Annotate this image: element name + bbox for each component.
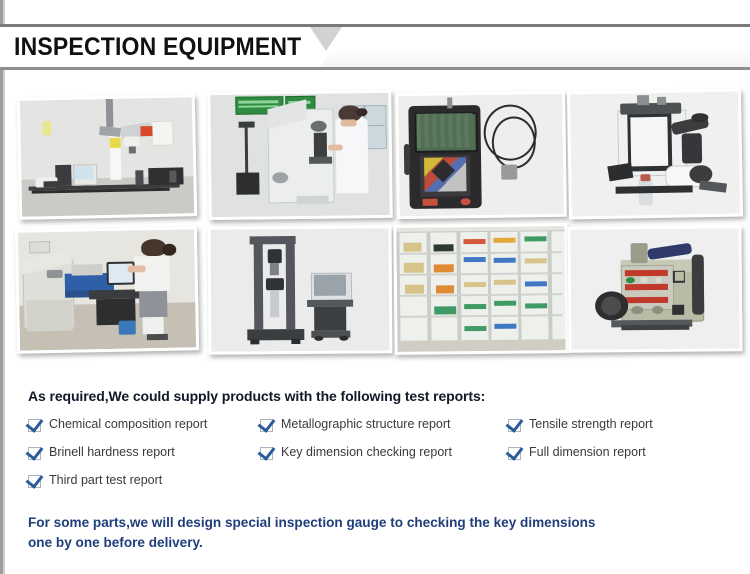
report-item-tensile-strength[interactable]: Tensile strength report <box>508 416 653 433</box>
page-root: INSPECTION EQUIPMENT <box>0 0 750 574</box>
photo-spectrometer[interactable] <box>15 226 199 353</box>
photo-sample-cabinets[interactable] <box>393 223 568 355</box>
report-item-chemical-composition[interactable]: Chemical composition report <box>28 416 207 433</box>
checkbox-checked-icon[interactable] <box>508 419 521 432</box>
report-label: Chemical composition report <box>49 416 207 433</box>
photo-universal-testing-machine[interactable] <box>208 225 393 354</box>
photo-hardness-tester[interactable] <box>207 90 393 220</box>
checkbox-checked-icon[interactable] <box>260 419 273 432</box>
report-label: Tensile strength report <box>529 416 653 433</box>
reports-heading: As required,We could supply products wit… <box>28 388 718 404</box>
note-line-1: For some parts,we will design special in… <box>28 512 707 532</box>
reports-row-1: Chemical composition report Metallograph… <box>28 416 728 444</box>
reports-row-2: Brinell hardness report Key dimension ch… <box>28 444 728 472</box>
report-item-third-part-test[interactable]: Third part test report <box>28 472 162 489</box>
checkbox-checked-icon[interactable] <box>508 447 521 460</box>
report-label: Brinell hardness report <box>49 444 175 461</box>
equipment-photo-grid <box>12 88 742 370</box>
header-rule-bottom <box>0 67 750 70</box>
note-line-2: one by one before delivery. <box>28 532 707 552</box>
checkbox-checked-icon[interactable] <box>28 475 41 488</box>
report-label: Full dimension report <box>529 444 646 461</box>
reports-row-3: Third part test report <box>28 472 728 500</box>
checkbox-checked-icon[interactable] <box>260 447 273 460</box>
photo-ultrasonic-detector[interactable] <box>395 91 567 219</box>
section-header: INSPECTION EQUIPMENT <box>0 24 750 70</box>
triangle-icon <box>310 27 342 51</box>
report-label: Key dimension checking report <box>281 444 452 461</box>
page-left-border-inner <box>3 0 5 574</box>
report-label: Third part test report <box>49 472 162 489</box>
checkbox-checked-icon[interactable] <box>28 447 41 460</box>
checkbox-checked-icon[interactable] <box>28 419 41 432</box>
report-item-metallographic-structure[interactable]: Metallographic structure report <box>260 416 451 433</box>
page-title: INSPECTION EQUIPMENT <box>14 32 301 62</box>
test-reports-list: Chemical composition report Metallograph… <box>28 416 728 500</box>
photo-metallurgical-microscope[interactable] <box>567 88 743 219</box>
report-label: Metallographic structure report <box>281 416 451 433</box>
report-item-key-dimension-checking[interactable]: Key dimension checking report <box>260 444 452 461</box>
report-item-brinell-hardness[interactable]: Brinell hardness report <box>28 444 175 461</box>
inspection-gauge-note: For some parts,we will design special in… <box>28 512 707 552</box>
photo-cmm-lab[interactable] <box>17 94 198 220</box>
photo-xray-detector[interactable] <box>567 225 742 353</box>
report-item-full-dimension[interactable]: Full dimension report <box>508 444 646 461</box>
